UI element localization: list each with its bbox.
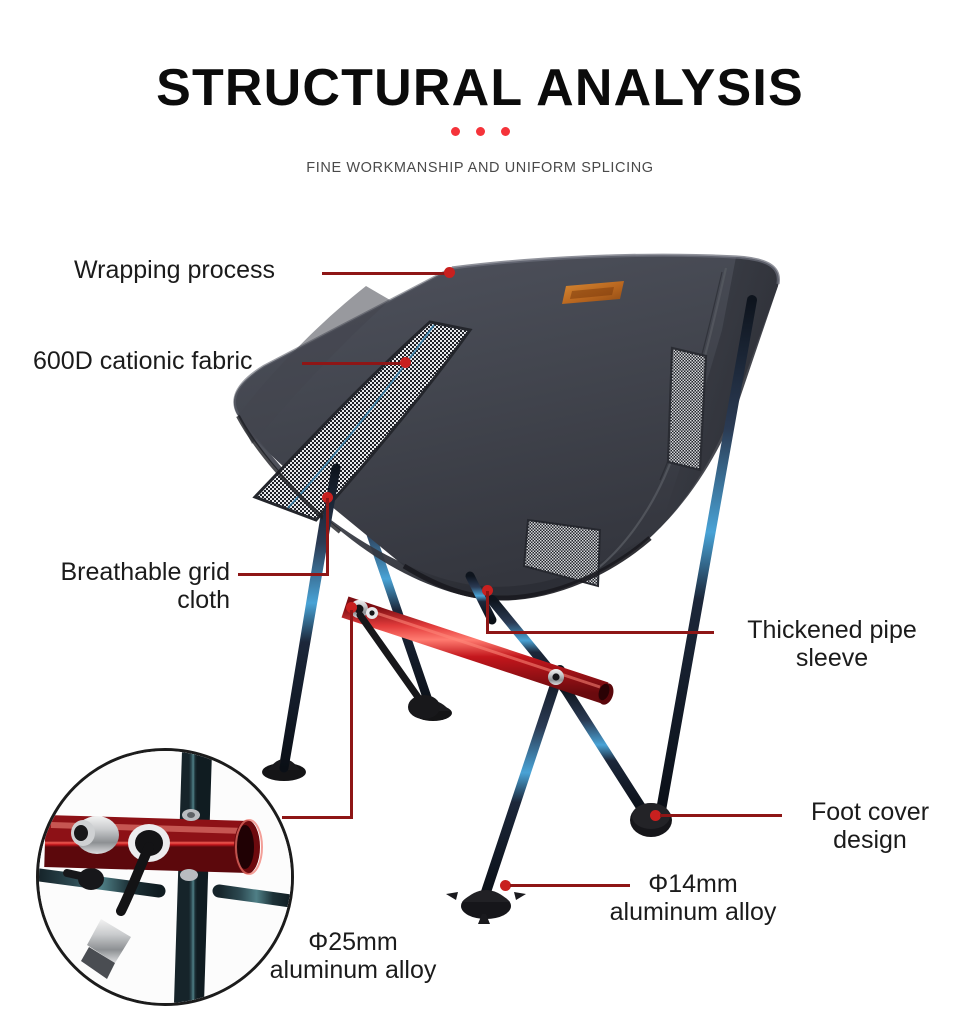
hub-connector [548, 669, 564, 685]
leader-line-wrapping-process [322, 272, 450, 275]
infographic-page: STRUCTURAL ANALYSIS FINE WORKMANSHIP AND… [0, 0, 960, 1027]
label-foot-cover: Foot cover design [786, 798, 954, 854]
leader-dot-wrapping-process [444, 267, 455, 278]
label-wrapping-process: Wrapping process [74, 256, 275, 284]
label-breathable-grid: Breathable grid cloth [0, 558, 230, 614]
foot-cap [630, 803, 672, 837]
leader-line-breathable-grid-h [238, 573, 329, 576]
label-tube-14mm: Φ14mm aluminum alloy [572, 870, 814, 926]
seat-fabric [230, 255, 779, 600]
leader-line-thickened-pipe-v [486, 591, 489, 633]
foot-cap [446, 890, 526, 924]
label-thickened-pipe: Thickened pipe sleeve [718, 616, 946, 672]
label-cationic-fabric: 600D cationic fabric [33, 347, 253, 375]
leader-line-foot-cover [660, 814, 782, 817]
leader-line-tube-25mm-h [282, 816, 353, 819]
leader-line-breathable-grid-v [326, 498, 329, 575]
leader-line-thickened-pipe-h [486, 631, 714, 634]
leader-line-cationic-fabric [302, 362, 406, 365]
leader-dot-cationic-fabric [400, 357, 411, 368]
leader-line-tube-25mm-v [350, 610, 353, 818]
label-tube-25mm: Φ25mm aluminum alloy [230, 928, 476, 984]
